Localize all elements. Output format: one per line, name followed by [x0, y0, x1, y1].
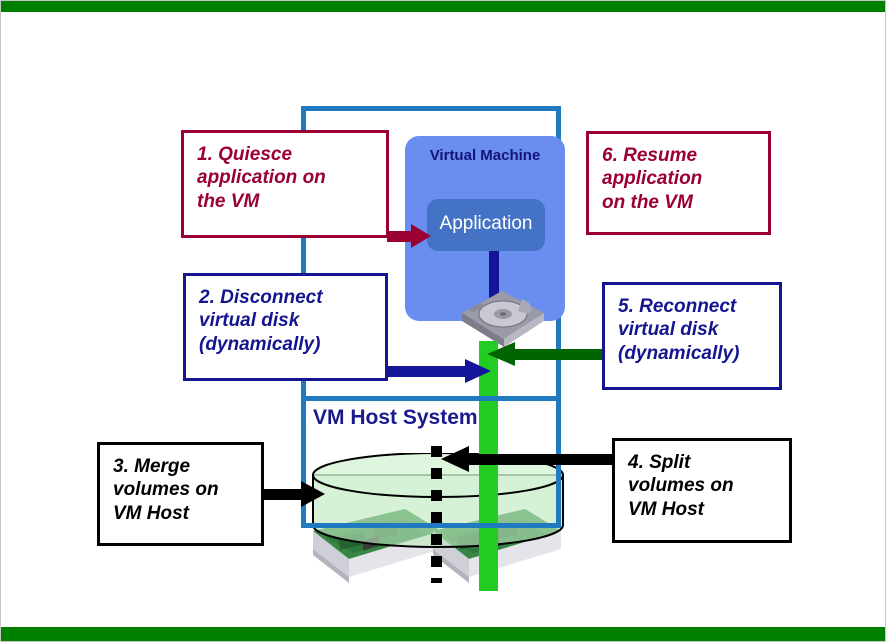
- slide-canvas: VM Host System Virtual Machine Applicati…: [0, 0, 886, 642]
- callout-step-1[interactable]: 1. Quiesce application on the VM: [181, 130, 389, 238]
- callout-step-6[interactable]: 6. Resume application on the VM: [586, 131, 771, 235]
- application-box: Application: [427, 199, 545, 251]
- callout-step-5[interactable]: 5. Reconnect virtual disk (dynamically): [602, 282, 782, 390]
- callout-step-3[interactable]: 3. Merge volumes on VM Host: [97, 442, 264, 546]
- arrow-split: [441, 445, 617, 478]
- arrow-merge: [259, 480, 325, 513]
- arrow-reconnect: [487, 341, 609, 372]
- virtual-machine-title: Virtual Machine: [405, 147, 565, 164]
- top-green-band: [1, 1, 885, 12]
- callout-step-4[interactable]: 4. Split volumes on VM Host: [612, 438, 792, 543]
- arrow-quiesce: [387, 223, 431, 254]
- application-label: Application: [427, 213, 545, 235]
- bottom-green-band: [1, 627, 885, 641]
- callout-step-2[interactable]: 2. Disconnect virtual disk (dynamically): [183, 273, 388, 381]
